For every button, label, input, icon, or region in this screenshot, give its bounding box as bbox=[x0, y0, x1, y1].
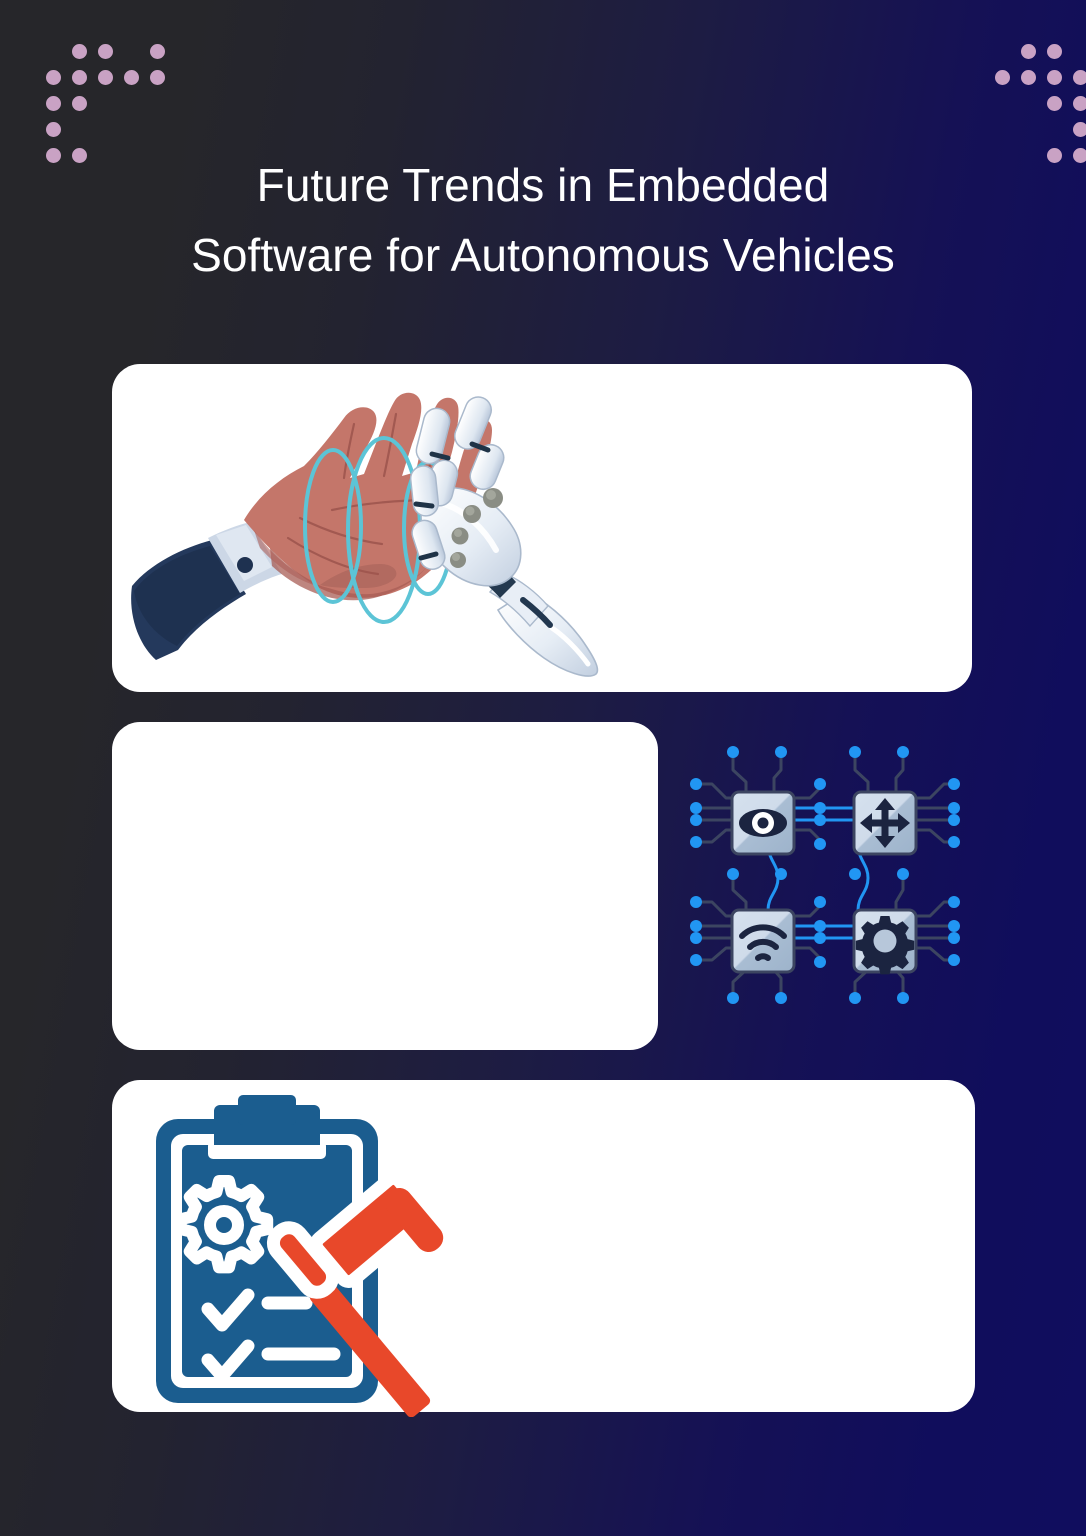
chip-eye-icon bbox=[732, 792, 794, 854]
card-role-of-iot[interactable] bbox=[112, 722, 658, 1050]
infographic-poster: Future Trends in Embedded Software for A… bbox=[0, 0, 1086, 1536]
page-title-line-2: Software for Autonomous Vehicles bbox=[0, 221, 1086, 291]
chip-gear-icon bbox=[854, 910, 916, 974]
iot-circuit-chips-icon bbox=[682, 732, 968, 1018]
page-title: Future Trends in Embedded Software for A… bbox=[0, 151, 1086, 291]
page-title-line-1: Future Trends in Embedded bbox=[0, 151, 1086, 221]
clipboard-gavel-icon bbox=[146, 1095, 486, 1417]
dot-grid-corner-icon bbox=[995, 44, 1086, 152]
human-robot-handshake-icon bbox=[120, 378, 620, 678]
dot-grid-corner-icon bbox=[46, 44, 166, 152]
chip-wifi-icon bbox=[732, 910, 794, 972]
chip-move-icon bbox=[854, 792, 916, 854]
